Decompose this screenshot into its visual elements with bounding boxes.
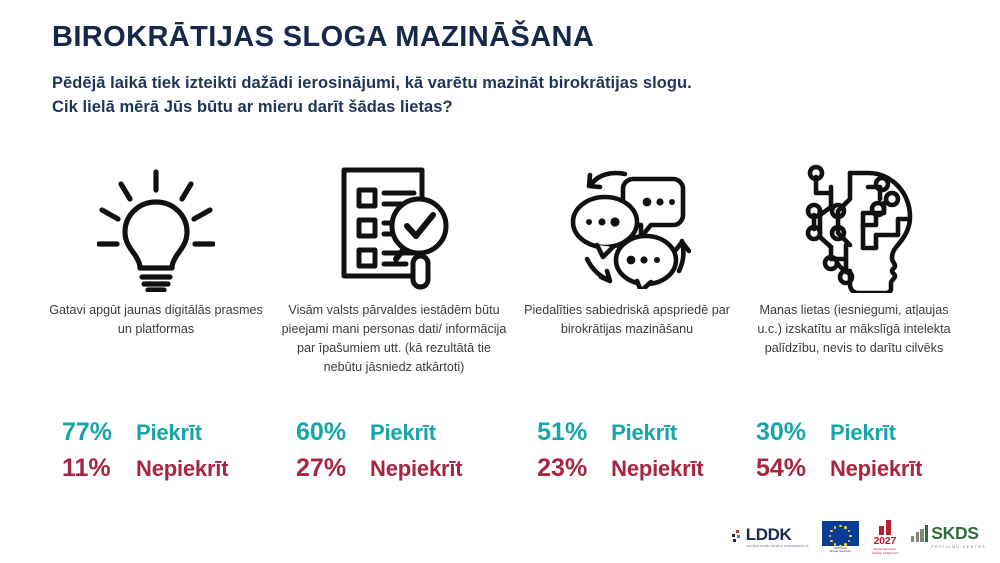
skds-text: SKDS PĒTĪJUMU CENTRS	[931, 525, 986, 549]
agree-stat: 51% Piekrīt	[537, 418, 742, 447]
cohesion-subtitle-line-2: kohēzijas politikas fondi	[872, 552, 898, 555]
statement-column-3: Piedalīties sabiedriskā apspriedē par bi…	[516, 160, 738, 339]
statement-column-4: Manas lietas (iesniegumi, atļaujas u.c.)…	[738, 160, 970, 358]
lddk-text: LDDK LATVIJAS DARBA DEVĒJU KONFEDERĀCIJA	[746, 526, 809, 548]
cohesion-bars-icon	[879, 519, 891, 535]
subtitle-line-1: Pēdējā laikā tiek izteikti dažādi ierosi…	[52, 74, 692, 92]
eu-logo: Līdzfinansē Eiropas Savienība	[822, 521, 859, 554]
disagree-label: Nepiekrīt	[136, 456, 228, 482]
eu-flag-icon	[822, 521, 859, 546]
cohesion-year: 2027	[874, 536, 897, 547]
statement-caption: Piedalīties sabiedriskā apspriedē par bi…	[516, 301, 738, 339]
footer-logos: LDDK LATVIJAS DARBA DEVĒJU KONFEDERĀCIJA…	[731, 519, 986, 555]
disagree-stat: 27% Nepiekrīt	[296, 454, 521, 483]
ai-head-circuit-icon	[788, 160, 920, 295]
agree-percent: 60%	[296, 418, 370, 447]
cohesion-2027-logo: 2027 Eiropas Savienības kohēzijas politi…	[872, 519, 898, 555]
stat-column-2: 60% Piekrīt 27% Nepiekrīt	[276, 418, 521, 490]
agree-stat: 60% Piekrīt	[296, 418, 521, 447]
statement-column-2: Visām valsts pārvaldes iestādēm būtu pie…	[272, 160, 516, 378]
agree-percent: 77%	[62, 418, 136, 447]
disagree-stat: 23% Nepiekrīt	[537, 454, 742, 483]
disagree-stat: 11% Nepiekrīt	[62, 454, 276, 483]
eu-subtitle: Līdzfinansē Eiropas Savienība	[830, 547, 851, 554]
agree-label: Piekrīt	[370, 420, 436, 446]
lddk-mark-icon	[731, 529, 744, 545]
agree-label: Piekrīt	[611, 420, 677, 446]
page-title: BIROKRĀTIJAS SLOGA MAZINĀŠANA	[52, 22, 952, 54]
agree-label: Piekrīt	[830, 420, 896, 446]
lightbulb-icon	[97, 160, 215, 295]
checklist-magnifier-icon	[334, 160, 454, 295]
skds-logo: SKDS PĒTĪJUMU CENTRS	[911, 525, 986, 549]
skds-bars-icon	[911, 525, 928, 542]
agree-percent: 51%	[537, 418, 611, 447]
statement-columns: Gatavi apgūt jaunas digitālās prasmes un…	[40, 160, 970, 378]
lddk-wordmark: LDDK	[746, 526, 809, 543]
statement-caption: Visām valsts pārvaldes iestādēm būtu pie…	[272, 301, 516, 378]
disagree-label: Nepiekrīt	[830, 456, 922, 482]
statement-column-1: Gatavi apgūt jaunas digitālās prasmes un…	[40, 160, 272, 339]
statistics-row: 77% Piekrīt 11% Nepiekrīt 60% Piekrīt 27…	[40, 418, 970, 490]
agree-stat: 30% Piekrīt	[756, 418, 970, 447]
stat-column-3: 51% Piekrīt 23% Nepiekrīt	[521, 418, 742, 490]
disagree-label: Nepiekrīt	[370, 456, 462, 482]
agree-label: Piekrīt	[136, 420, 202, 446]
lddk-logo: LDDK LATVIJAS DARBA DEVĒJU KONFEDERĀCIJA	[731, 526, 809, 548]
skds-subtitle: PĒTĪJUMU CENTRS	[931, 545, 986, 549]
eu-subtitle-line-2: Eiropas Savienība	[830, 550, 851, 553]
header: BIROKRĀTIJAS SLOGA MAZINĀŠANA Pēdējā lai…	[52, 22, 952, 120]
disagree-label: Nepiekrīt	[611, 456, 703, 482]
agree-percent: 30%	[756, 418, 830, 447]
skds-wordmark: SKDS	[931, 525, 986, 543]
speech-bubbles-icon	[563, 160, 691, 295]
stat-column-4: 30% Piekrīt 54% Nepiekrīt	[742, 418, 970, 490]
disagree-percent: 23%	[537, 454, 611, 483]
cohesion-subtitle: Eiropas Savienības kohēzijas politikas f…	[872, 548, 898, 555]
page-subtitle: Pēdējā laikā tiek izteikti dažādi ierosi…	[52, 72, 952, 120]
disagree-percent: 11%	[62, 454, 136, 483]
statement-caption: Manas lietas (iesniegumi, atļaujas u.c.)…	[738, 301, 970, 358]
disagree-percent: 54%	[756, 454, 830, 483]
statement-caption: Gatavi apgūt jaunas digitālās prasmes un…	[40, 301, 272, 339]
subtitle-line-2: Cik lielā mērā Jūs būtu ar mieru darīt š…	[52, 96, 952, 120]
stat-column-1: 77% Piekrīt 11% Nepiekrīt	[40, 418, 276, 490]
disagree-percent: 27%	[296, 454, 370, 483]
agree-stat: 77% Piekrīt	[62, 418, 276, 447]
disagree-stat: 54% Nepiekrīt	[756, 454, 970, 483]
lddk-subtitle: LATVIJAS DARBA DEVĒJU KONFEDERĀCIJA	[746, 545, 809, 548]
